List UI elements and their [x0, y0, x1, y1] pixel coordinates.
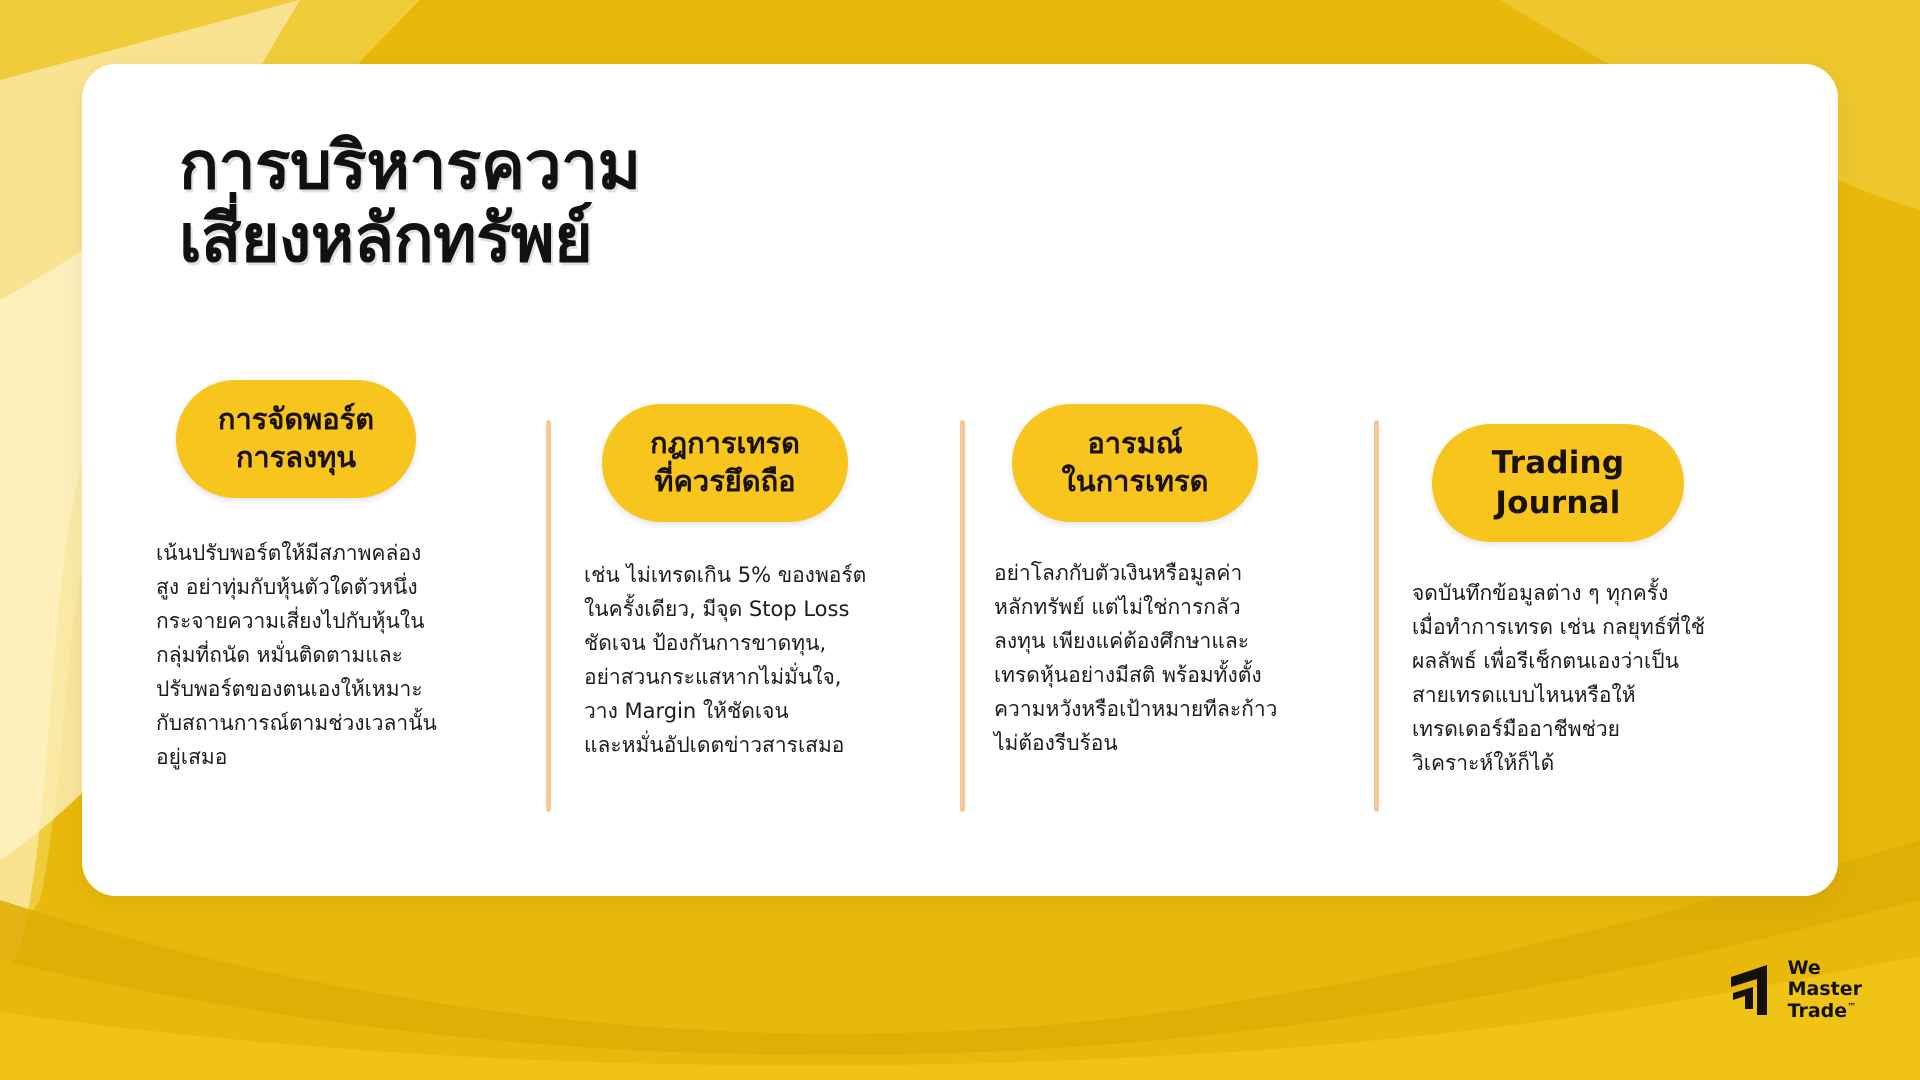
slide-root: การบริหารความ เสี่ยงหลักทรัพย์ การจัดพอร… [0, 0, 1920, 1080]
badge-label-line-2: การลงทุน [236, 439, 356, 477]
badge-label-line-1: การจัดพอร์ต [218, 401, 374, 439]
column-divider [960, 420, 965, 812]
column-trading-emotions: อารมณ์ ในการเทรด อย่าโลภกับตัวเงินหรือมู… [960, 344, 1374, 834]
column-portfolio-management: การจัดพอร์ต การลงทุน เน้นปรับพอร์ตให้มีส… [132, 344, 546, 834]
badge-portfolio-management[interactable]: การจัดพอร์ต การลงทุน [176, 380, 416, 498]
columns-container: การจัดพอร์ต การลงทุน เน้นปรับพอร์ตให้มีส… [132, 344, 1788, 834]
page-title: การบริหารความ เสี่ยงหลักทรัพย์ [179, 130, 1079, 275]
badge-label-line-1: กฎการเทรด [650, 425, 800, 463]
badge-label-line-2: ในการเทรด [1062, 463, 1209, 501]
column-divider [546, 420, 551, 812]
logo-line-3-text: Trade [1788, 1000, 1848, 1022]
badge-label-line-2: ที่ควรยึดถือ [654, 463, 795, 501]
badge-label-line-2: Journal [1495, 483, 1620, 523]
badge-trading-emotions[interactable]: อารมณ์ ในการเทรด [1012, 404, 1258, 522]
logo-line-3: Trade™ [1788, 1001, 1862, 1022]
title-line-1: การบริหารความ [179, 130, 1079, 203]
wemastertrade-arrow-icon [1723, 963, 1775, 1017]
badge-label-line-1: อารมณ์ [1087, 425, 1182, 463]
badge-trading-rules[interactable]: กฎการเทรด ที่ควรยึดถือ [602, 404, 848, 522]
content-card: การบริหารความ เสี่ยงหลักทรัพย์ การจัดพอร… [82, 64, 1838, 896]
logo-line-2: Master [1788, 979, 1862, 1000]
column-body-text: จดบันทึกข้อมูลต่าง ๆ ทุกครั้ง เมื่อทำการ… [1412, 576, 1772, 780]
column-body-text: เน้นปรับพอร์ตให้มีสภาพคล่อง สูง อย่าทุ่ม… [156, 536, 530, 774]
column-body-text: อย่าโลภกับตัวเงินหรือมูลค่า หลักทรัพย์ แ… [994, 556, 1358, 760]
badge-label-line-1: Trading [1492, 443, 1624, 483]
column-divider [1374, 420, 1379, 812]
column-trading-rules: กฎการเทรด ที่ควรยึดถือ เช่น ไม่เทรดเกิน … [546, 344, 960, 834]
logo-line-1: We [1788, 958, 1862, 979]
column-body-text: เช่น ไม่เทรดเกิน 5% ของพอร์ต ในครั้งเดีย… [584, 558, 944, 762]
trademark-symbol: ™ [1847, 1002, 1856, 1012]
title-line-2: เสี่ยงหลักทรัพย์ [179, 203, 1079, 276]
badge-trading-journal[interactable]: Trading Journal [1432, 424, 1684, 542]
brand-logo: We Master Trade™ [1723, 958, 1862, 1022]
column-trading-journal: Trading Journal จดบันทึกข้อมูลต่าง ๆ ทุก… [1374, 344, 1788, 834]
brand-logo-text: We Master Trade™ [1788, 958, 1862, 1022]
